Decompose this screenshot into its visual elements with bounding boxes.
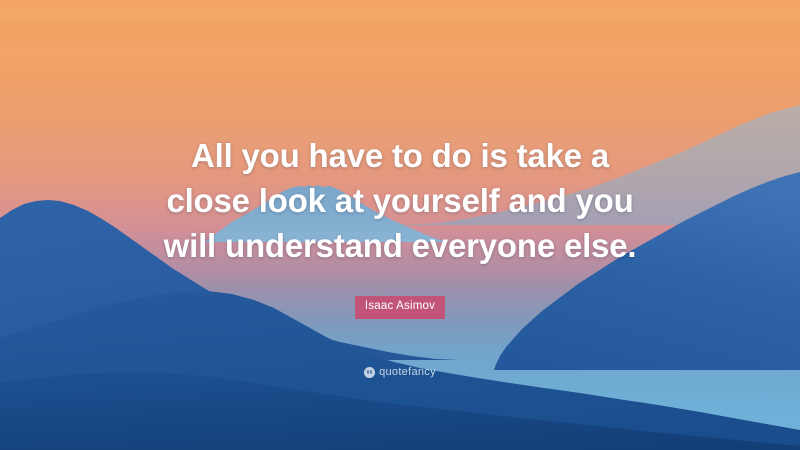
ridge-bottom-dark — [0, 330, 800, 450]
quote-image-canvas: All you have to do is take a close look … — [0, 0, 800, 450]
watermark: quotefancy — [0, 365, 800, 383]
author-name-badge: Isaac Asimov — [355, 296, 445, 319]
quote-line-3: will understand everyone else. — [110, 223, 690, 268]
watermark-inner: quotefancy — [364, 367, 436, 378]
quote-line-1: All you have to do is take a — [110, 133, 690, 178]
watermark-brand-label: quotefancy — [379, 367, 436, 378]
quote-line-2: close look at yourself and you — [110, 178, 690, 223]
quote-mark-circle-icon — [364, 367, 375, 378]
quote-text-block: All you have to do is take a close look … — [0, 133, 800, 268]
author-attribution: Isaac Asimov — [0, 296, 800, 319]
